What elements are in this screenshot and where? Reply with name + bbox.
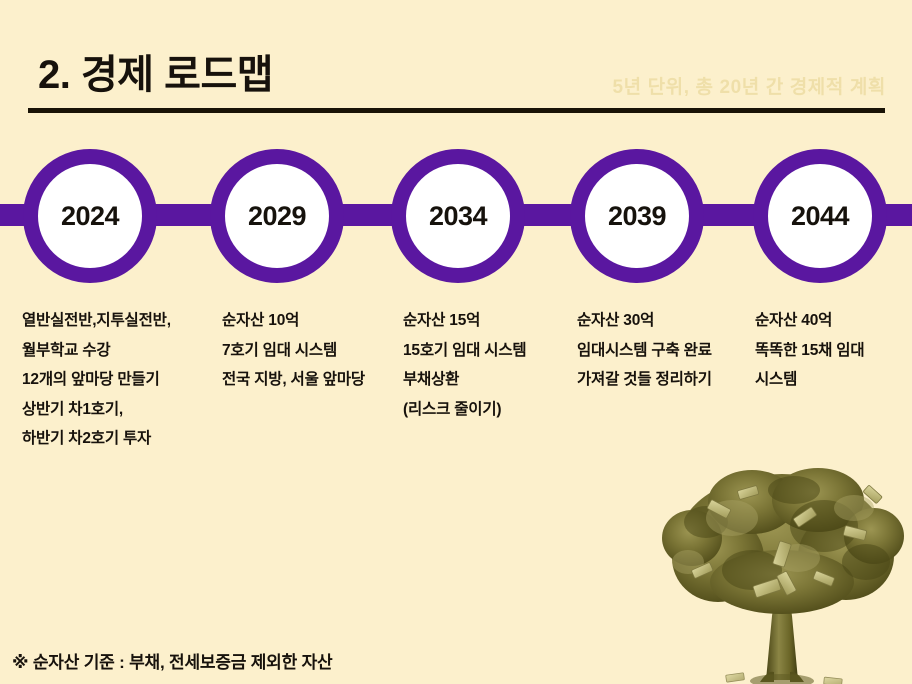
roadmap-column-2044: 순자산 40억똑똑한 15채 임대시스템 (755, 306, 864, 395)
roadmap-column-line: 부채상환 (403, 365, 526, 395)
roadmap-column-line: 임대시스템 구축 완료 (577, 336, 712, 366)
roadmap-column-2034: 순자산 15억15호기 임대 시스템부채상환(리스크 줄이기) (403, 306, 526, 424)
roadmap-column-line: 전국 지방, 서울 앞마당 (222, 365, 365, 395)
timeline-node-2039[interactable]: 2039 (570, 149, 704, 283)
header-subtitle: 5년 단위, 총 20년 간 경제적 계획 (612, 72, 886, 99)
money-tree-icon (648, 466, 912, 684)
timeline-node-2024[interactable]: 2024 (23, 149, 157, 283)
header-divider (28, 108, 885, 113)
timeline-node-year: 2024 (61, 203, 119, 230)
roadmap-column-line: 12개의 앞마당 만들기 (22, 365, 171, 395)
footnote: ※ 순자산 기준 : 부채, 전세보증금 제외한 자산 (12, 648, 332, 673)
roadmap-column-line: 똑똑한 15채 임대 (755, 336, 864, 366)
timeline-node-year: 2029 (248, 203, 306, 230)
timeline-node-2044[interactable]: 2044 (753, 149, 887, 283)
timeline-node-year: 2044 (791, 203, 849, 230)
roadmap-column-line: 하반기 차2호기 투자 (22, 424, 171, 454)
roadmap-column-line: 15호기 임대 시스템 (403, 336, 526, 366)
roadmap-column-line: 상반기 차1호기, (22, 395, 171, 425)
roadmap-column-2029: 순자산 10억7호기 임대 시스템전국 지방, 서울 앞마당 (222, 306, 365, 395)
page-title: 2. 경제 로드맵 (38, 42, 273, 100)
roadmap-column-line: (리스크 줄이기) (403, 395, 526, 425)
roadmap-column-line: 순자산 40억 (755, 306, 864, 336)
roadmap-column-line: 가져갈 것들 정리하기 (577, 365, 712, 395)
roadmap-column-line: 순자산 10억 (222, 306, 365, 336)
timeline-node-2034[interactable]: 2034 (391, 149, 525, 283)
roadmap-column-line: 열반실전반,지투실전반, (22, 306, 171, 336)
roadmap-column-line: 순자산 15억 (403, 306, 526, 336)
roadmap-column-line: 7호기 임대 시스템 (222, 336, 365, 366)
timeline: 20242029203420392044 (0, 144, 912, 294)
timeline-node-2029[interactable]: 2029 (210, 149, 344, 283)
roadmap-column-line: 월부학교 수강 (22, 336, 171, 366)
roadmap-columns: 열반실전반,지투실전반,월부학교 수강12개의 앞마당 만들기상반기 차1호기,… (0, 306, 912, 486)
timeline-node-year: 2034 (429, 203, 487, 230)
roadmap-column-line: 순자산 30억 (577, 306, 712, 336)
slide-root: 2. 경제 로드맵 5년 단위, 총 20년 간 경제적 계획 20242029… (0, 0, 912, 684)
roadmap-column-2024: 열반실전반,지투실전반,월부학교 수강12개의 앞마당 만들기상반기 차1호기,… (22, 306, 171, 454)
roadmap-column-2039: 순자산 30억임대시스템 구축 완료가져갈 것들 정리하기 (577, 306, 712, 395)
roadmap-column-line: 시스템 (755, 365, 864, 395)
timeline-node-year: 2039 (608, 203, 666, 230)
